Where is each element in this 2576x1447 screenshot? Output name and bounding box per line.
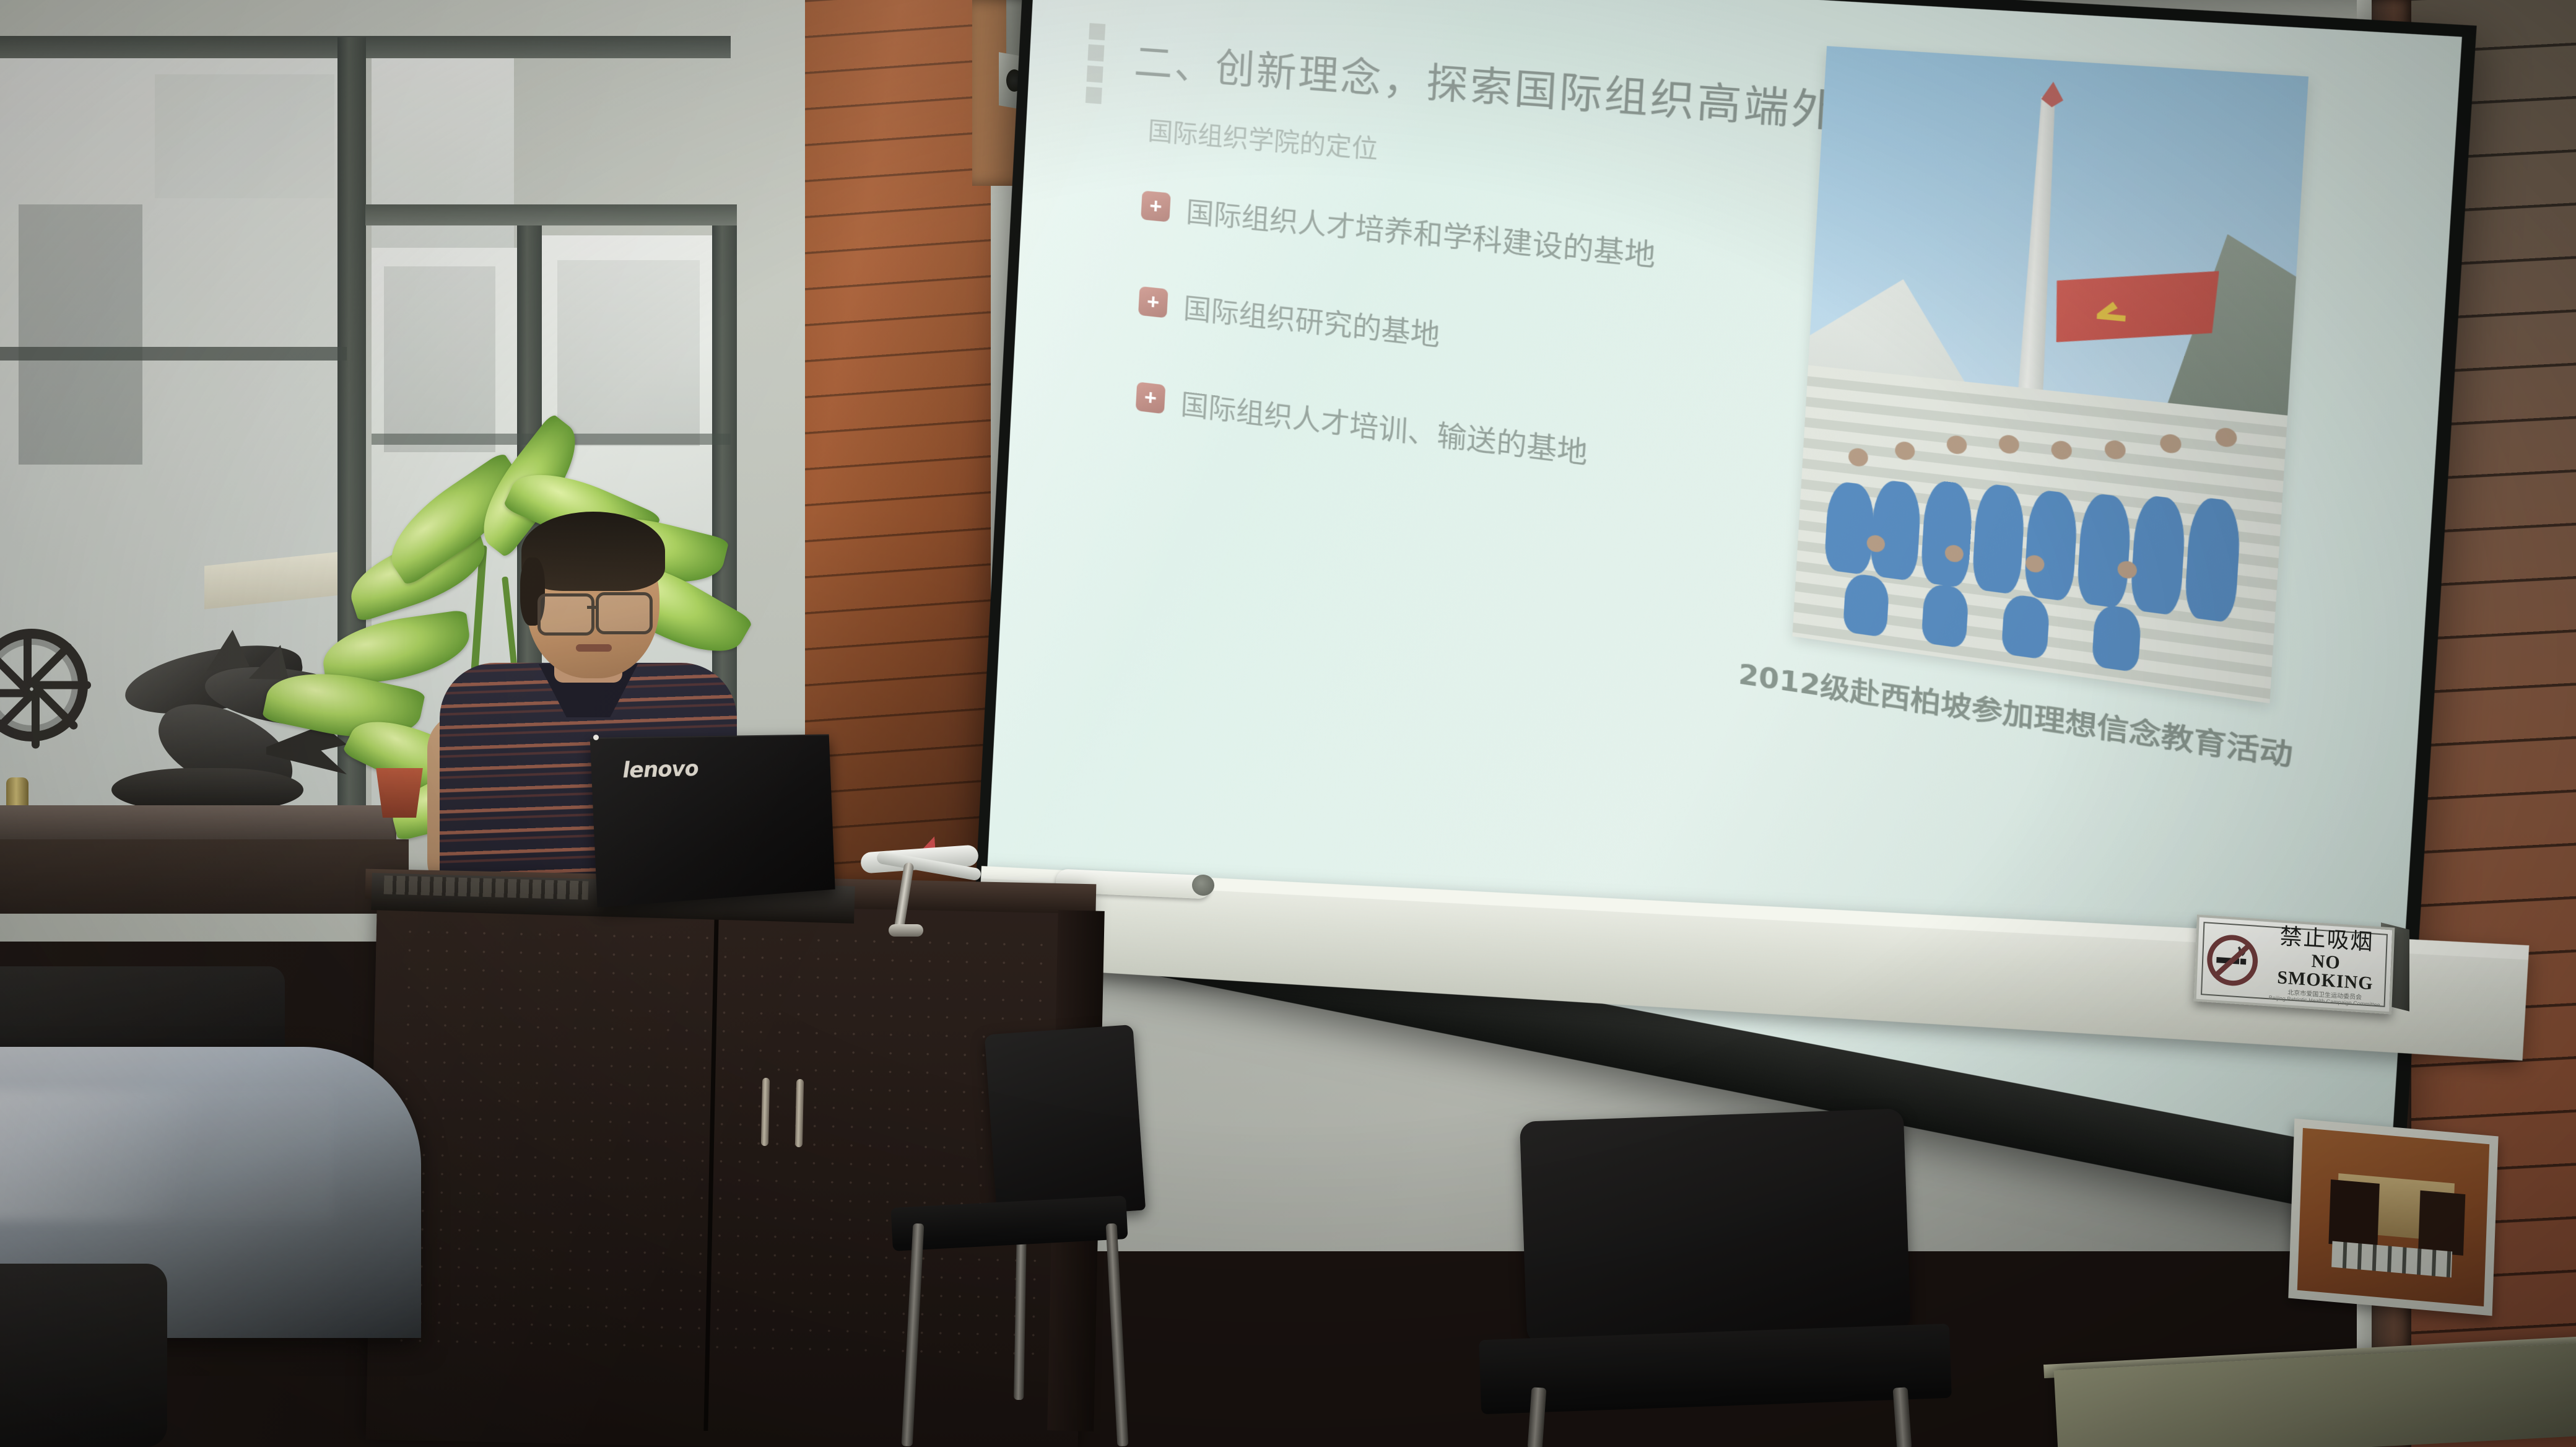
model-airplane-stand-base [889,924,923,937]
slide-bullet: + 国际组织人才培养和学科建设的基地 [1141,186,1657,275]
cabinet-recess-right [2418,1191,2465,1256]
chair-leg [1106,1223,1129,1446]
table-reflection [0,1090,334,1220]
presenter-mouth [576,644,612,652]
slide-decoration-band [1086,23,1105,104]
cabinet-face [2297,1128,2489,1306]
foreground-table-right [2054,1343,2576,1447]
cabinet-handle[interactable] [795,1079,804,1147]
bullet-plus-icon: + [1136,382,1165,414]
slide-bullet: + 国际组织研究的基地 [1138,281,1441,354]
slide-subtitle: 国际组织学院的定位 [1147,110,1379,166]
no-smoking-icon [2203,930,2261,990]
sign-text-block: 禁止吸烟 NO SMOKING 北京市爱国卫生运动委员会 Beijing Pat… [2266,925,2386,1008]
bullet-label: 国际组织人才培训、输送的基地 [1180,382,1589,472]
glasses-icon [596,592,653,634]
wood-column-shading [805,0,991,929]
slide-group-photo [1792,46,2308,703]
slide-bullet: + 国际组织人才培训、输送的基地 [1135,377,1589,472]
windowsill-front [0,839,409,914]
chair-seat[interactable] [1479,1324,1952,1414]
chair-backrest[interactable] [985,1025,1146,1220]
glasses-bridge [587,606,598,609]
laptop-corner-highlight [593,735,599,740]
laptop-lid: lenovo [590,734,835,907]
bullet-label: 国际组织人才培养和学科建设的基地 [1185,190,1657,274]
bullet-plus-icon: + [1141,191,1171,222]
chair-backrest[interactable] [1520,1108,1911,1344]
cabinet-handle[interactable] [761,1078,770,1146]
bullet-plus-icon: + [1138,286,1168,318]
cabinet-recess-left [2329,1179,2380,1249]
photo-person [2001,593,2050,660]
lenovo-logo: lenovo [622,756,698,784]
no-smoking-sign: 禁止吸烟 NO SMOKING 北京市爱国卫生运动委员会 Beijing Pat… [2194,914,2395,1014]
podium-perforated-panel [392,922,1063,1370]
wall-cabinet[interactable] [2288,1119,2498,1316]
window-mullion [0,347,347,361]
outdoor-sky [155,74,334,198]
glasses-icon [537,593,594,636]
foreground-chair[interactable] [0,1264,167,1447]
sign-english-label: NO SMOKING [2266,949,2385,994]
window-mullion [365,204,737,225]
outdoor-building [557,260,700,446]
outdoor-building [384,266,495,452]
classroom-scene: 二、创新理念，探索国际组织高端外语 国际组织学院的定位 + 国际组织人才培养和学… [0,0,2576,1447]
outdoor-building [19,204,142,465]
bullet-label: 国际组织研究的基地 [1183,286,1442,354]
